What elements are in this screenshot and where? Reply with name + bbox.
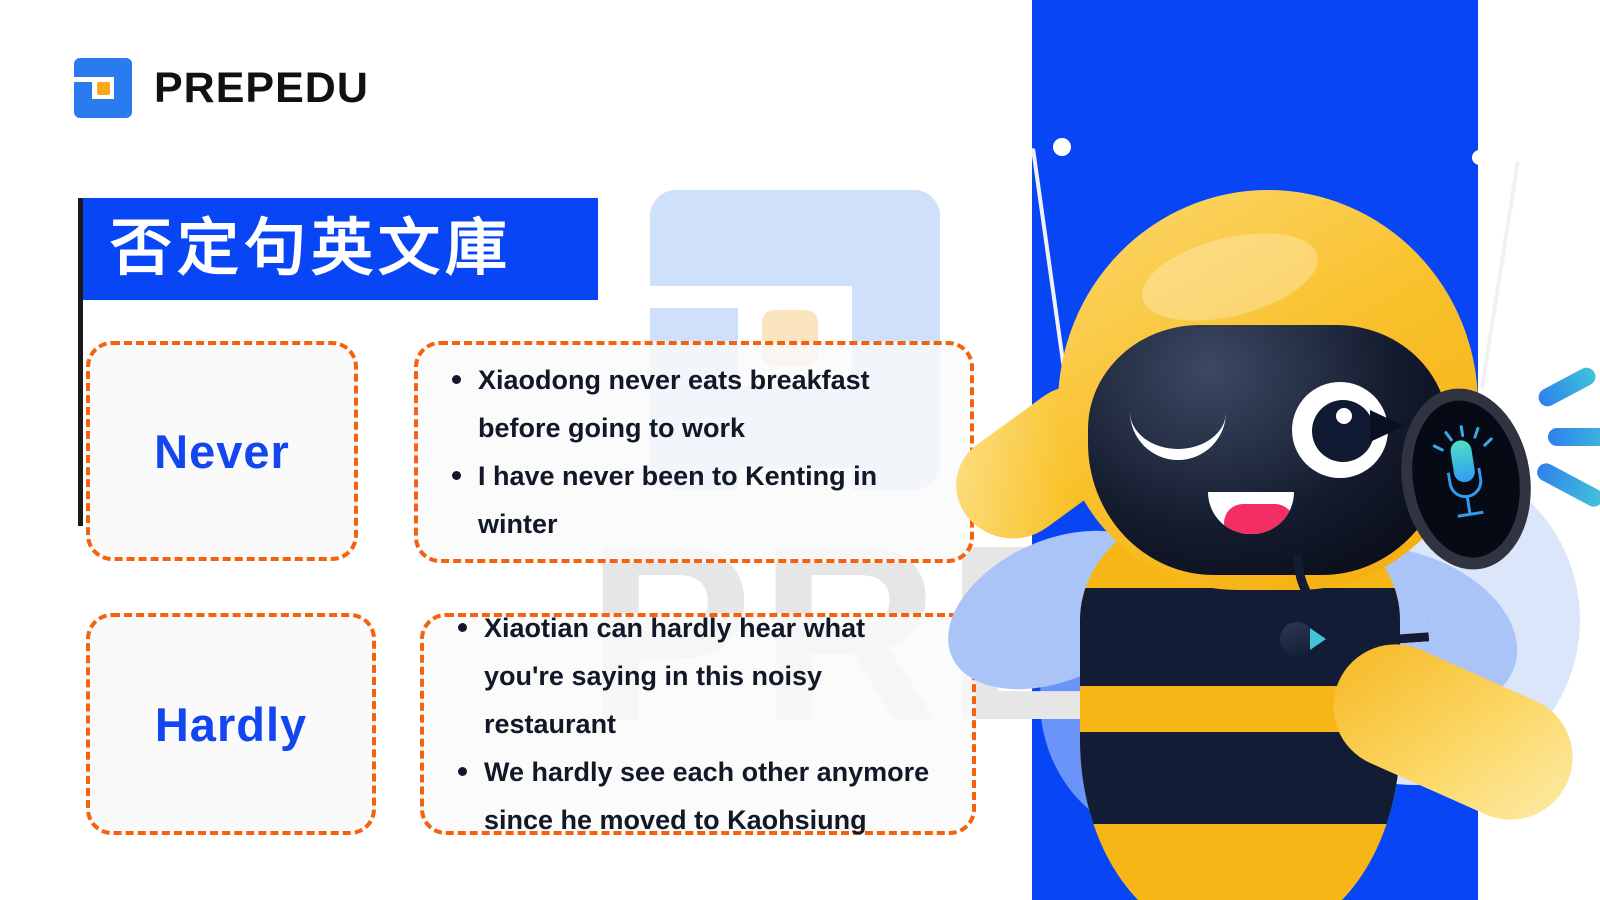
label-card-hardly: Hardly	[86, 613, 376, 835]
face-visor	[1088, 325, 1448, 575]
label-never: Never	[154, 424, 290, 479]
label-card-never: Never	[86, 341, 358, 561]
sound-waves-icon	[1548, 428, 1600, 446]
brand-name: PREPEDU	[154, 64, 369, 113]
antenna-right-icon	[1480, 161, 1520, 389]
list-item: Xiaotian can hardly hear what you're say…	[454, 604, 944, 748]
list-item: We hardly see each other anymore since h…	[454, 748, 944, 844]
prepedu-logo-icon	[74, 58, 132, 118]
sound-waves-icon	[1534, 460, 1600, 510]
list-item: I have never been to Kenting in winter	[448, 452, 942, 548]
content-card-never: Xiaodong never eats breakfast before goi…	[414, 341, 974, 563]
antenna-left-icon	[1031, 148, 1067, 376]
winking-eye-icon	[1130, 402, 1226, 446]
poster-canvas: PREP PREPEDU 否定句英文庫 Never Xiaodong never…	[0, 0, 1600, 900]
sound-waves-icon	[1535, 364, 1598, 409]
bee-robot-mascot	[940, 110, 1600, 900]
title-banner: 否定句英文庫	[83, 198, 598, 300]
mic-boom-tip	[1280, 622, 1314, 656]
content-card-hardly: Xiaotian can hardly hear what you're say…	[420, 613, 976, 835]
list-item: Xiaodong never eats breakfast before goi…	[448, 356, 942, 452]
antenna-right-tip	[1472, 150, 1487, 165]
brand-logo[interactable]: PREPEDU	[74, 58, 369, 118]
label-hardly: Hardly	[155, 697, 307, 752]
page-title: 否定句英文庫	[110, 218, 512, 280]
antenna-left-tip	[1053, 138, 1071, 156]
eye-lash	[1370, 410, 1404, 442]
mic-boom-pointer	[1310, 628, 1326, 650]
